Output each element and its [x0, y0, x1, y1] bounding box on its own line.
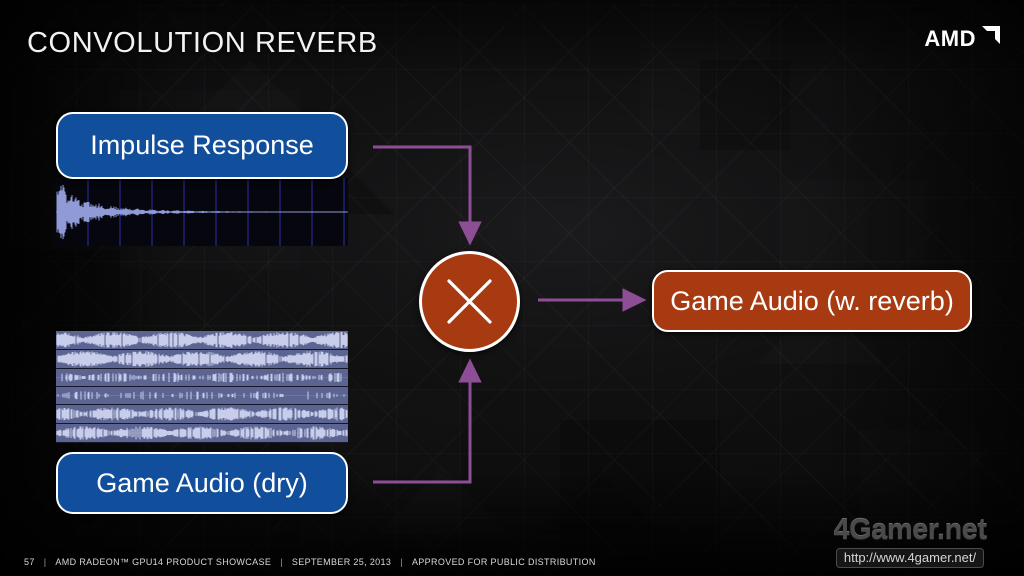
slide-canvas: CONVOLUTION REVERB AMD [0, 0, 1024, 576]
amd-logo: AMD [924, 26, 1000, 51]
game-audio-multitrack-waveform [56, 331, 348, 443]
edge-impulse-to-multiply [373, 147, 470, 238]
footer-deck-name: AMD RADEON™ GPU14 PRODUCT SHOWCASE [55, 557, 271, 567]
multiply-icon [422, 254, 517, 349]
footer-separator-1: | [44, 557, 47, 567]
node-game-audio-wet-reverb[interactable]: Game Audio (w. reverb) [652, 270, 972, 332]
watermark-url[interactable]: http://www.4gamer.net/ [836, 548, 984, 568]
watermark: 4Gamer.net http://www.4gamer.net/ [810, 516, 1010, 568]
node-impulse-response[interactable]: Impulse Response [56, 112, 348, 179]
amd-arrow-icon [980, 26, 1000, 51]
impulse-response-waveform [56, 178, 348, 246]
footer-page-number: 57 [24, 557, 35, 567]
watermark-logo: 4Gamer.net [810, 516, 1010, 545]
footer-date: SEPTEMBER 25, 2013 [292, 557, 391, 567]
page-title: CONVOLUTION REVERB [27, 27, 378, 60]
footer-separator-3: | [400, 557, 403, 567]
amd-wordmark: AMD [924, 28, 976, 50]
footer: 57 | AMD RADEON™ GPU14 PRODUCT SHOWCASE … [24, 557, 596, 567]
footer-distribution: APPROVED FOR PUBLIC DISTRIBUTION [412, 557, 596, 567]
node-game-audio-dry[interactable]: Game Audio (dry) [56, 452, 348, 514]
node-multiply[interactable] [419, 251, 520, 352]
edge-dry-to-multiply [373, 366, 470, 482]
footer-separator-2: | [280, 557, 283, 567]
